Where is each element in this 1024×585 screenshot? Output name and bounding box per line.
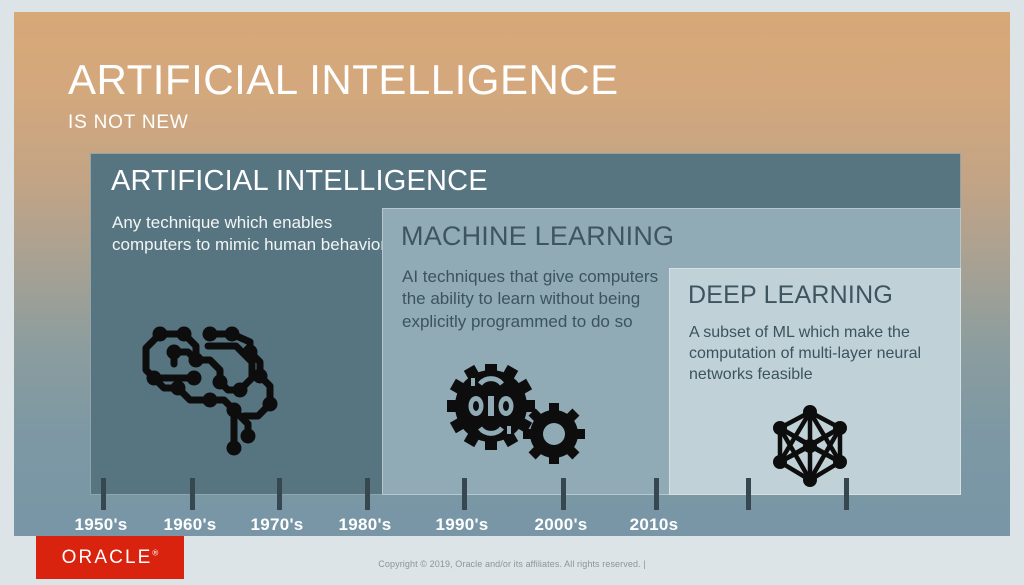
slide-frame: ARTIFICIAL INTELLIGENCE IS NOT NEW ARTIF… — [0, 0, 1024, 585]
timeline-label: 1970's — [250, 515, 303, 535]
timeline-tick — [190, 478, 195, 510]
timeline-tick — [561, 478, 566, 510]
oracle-registered-mark: ® — [152, 548, 158, 557]
timeline-tick — [365, 478, 370, 510]
timeline-label: 1960's — [163, 515, 216, 535]
slide-canvas: ARTIFICIAL INTELLIGENCE IS NOT NEW ARTIF… — [14, 12, 1010, 536]
timeline-label: 1980's — [338, 515, 391, 535]
copyright-notice: Copyright © 2019, Oracle and/or its affi… — [0, 559, 1024, 569]
timeline-tick — [277, 478, 282, 510]
timeline-tick — [844, 478, 849, 510]
timeline-label: 1950's — [74, 515, 127, 535]
timeline-tick — [654, 478, 659, 510]
timeline-label: 1990's — [435, 515, 488, 535]
timeline-label: 2000's — [534, 515, 587, 535]
timeline-tick — [746, 478, 751, 510]
timeline-tick — [462, 478, 467, 510]
oracle-logo: ORACLE® — [36, 536, 184, 579]
timeline-tick — [101, 478, 106, 510]
timeline-label: 2010s — [630, 515, 679, 535]
timeline-axis: 1950's1960's1970's1980's1990's2000's2010… — [14, 12, 1010, 536]
